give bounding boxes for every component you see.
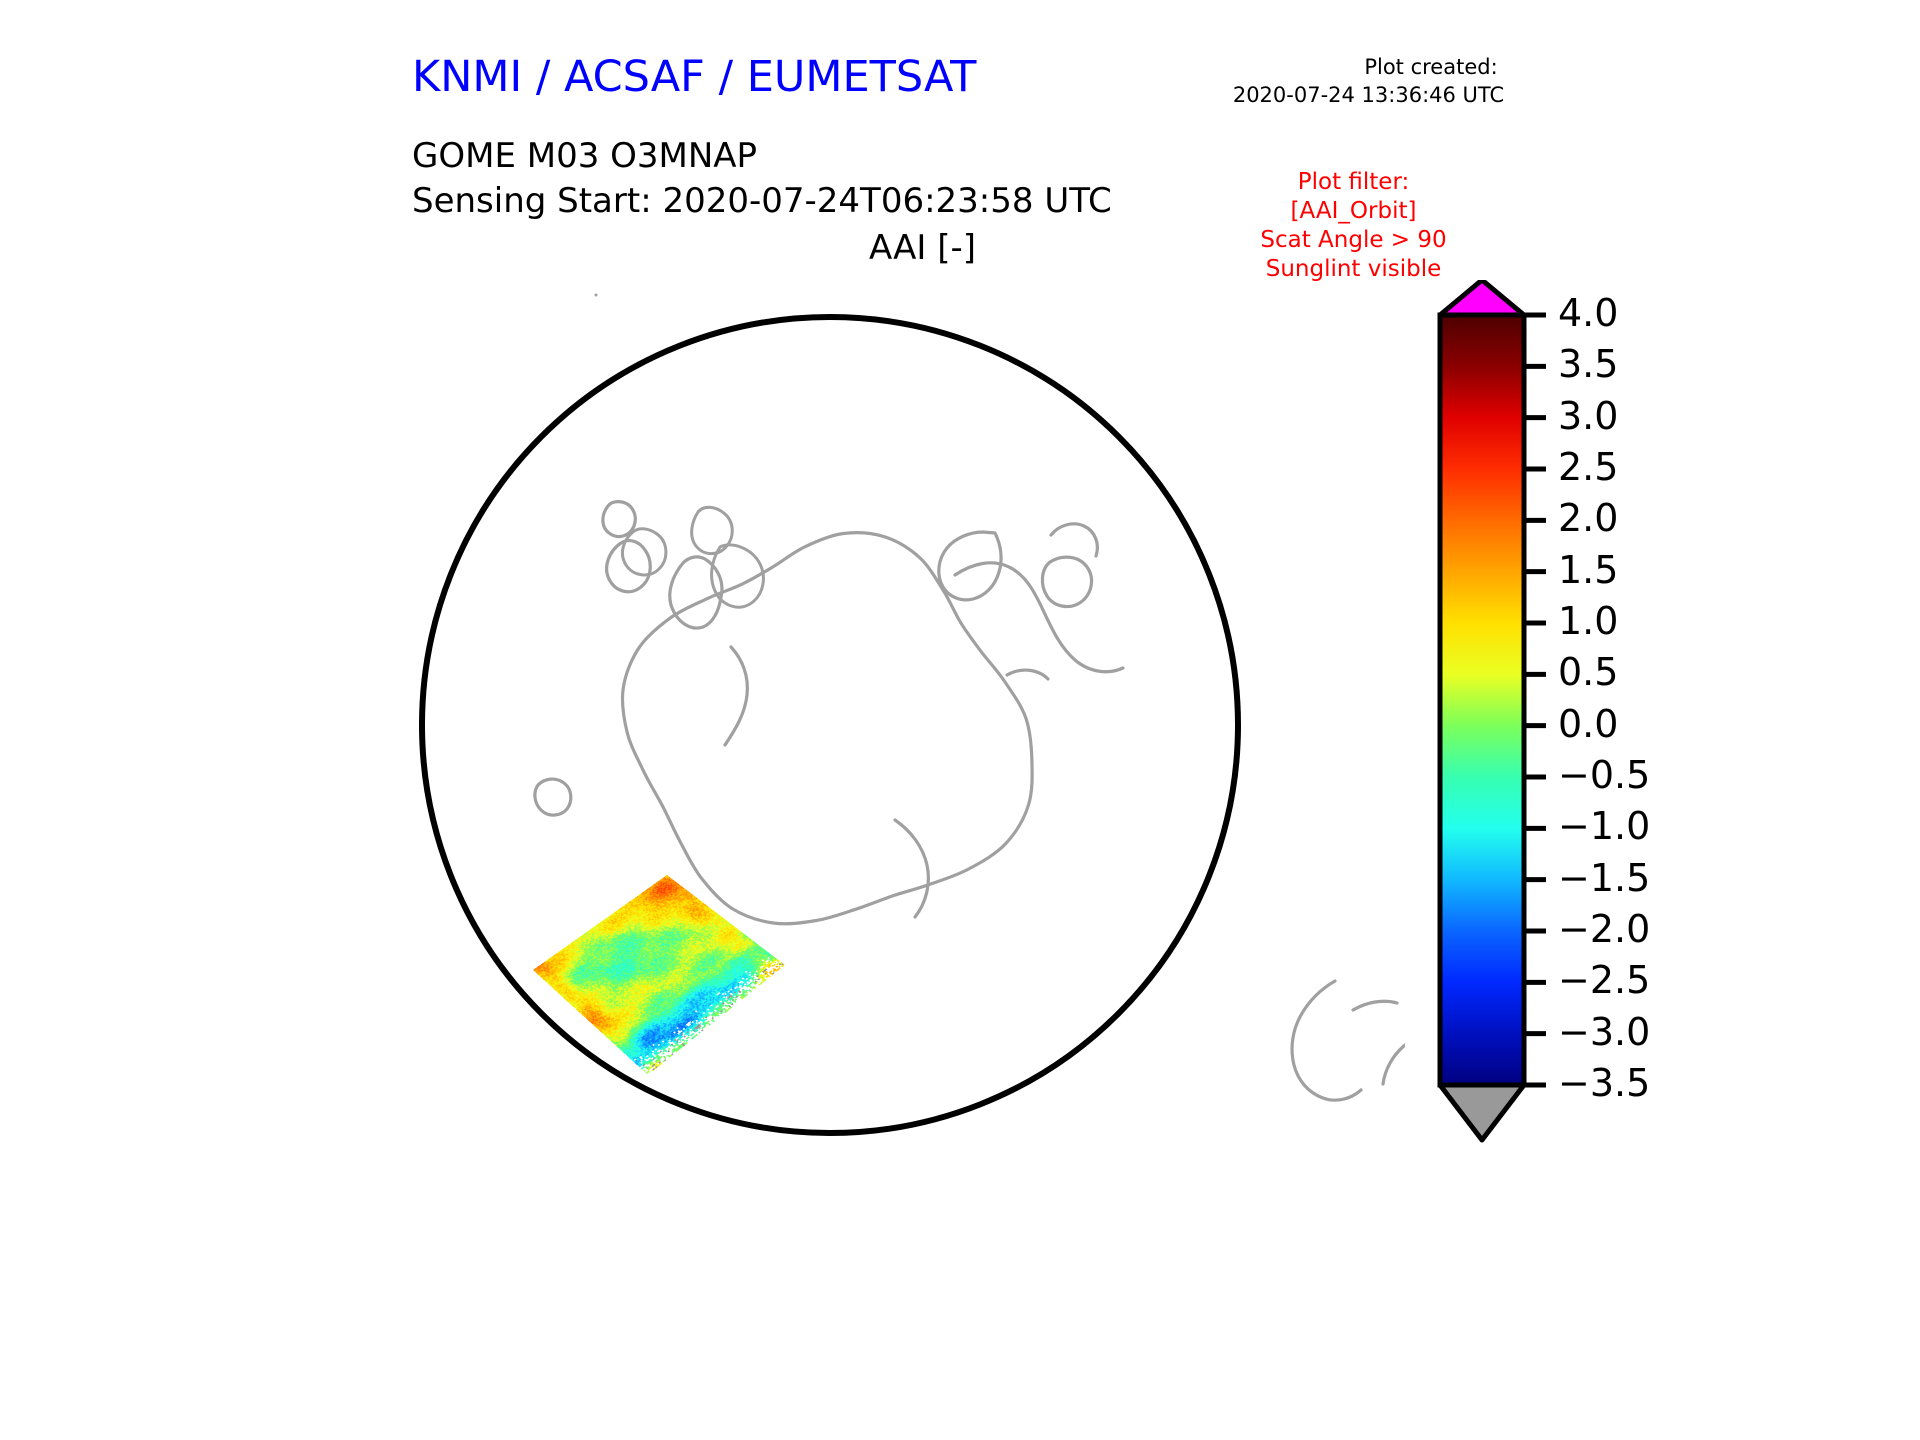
plot-filter-scat: Scat Angle > 90 [1130,226,1577,255]
colorbar-tick-label: −1.0 [1558,807,1650,845]
plot-filter-variable: [AAI_Orbit] [1130,197,1577,226]
colorbar-over-arrow [1440,280,1524,315]
colorbar-tick-label: −1.5 [1558,859,1650,897]
map-boundary-circle [422,317,1238,1133]
colorbar-ticks [1524,315,1546,1085]
aai-data-swath [533,875,785,1074]
product-name: GOME M03 O3MNAP [412,136,757,176]
colorbar: 4.03.53.02.52.01.51.00.50.0−0.5−1.0−1.5−… [1425,280,1845,1290]
plot-created-label: Plot created: [1285,55,1577,79]
colorbar-tick-label: 3.0 [1558,397,1618,435]
coastline-path [1383,1045,1405,1084]
coastline-path [622,533,1032,924]
coastline-path [955,563,1123,672]
colorbar-tick-label: 1.5 [1558,551,1618,589]
plot-created-timestamp: 2020-07-24 13:36:46 UTC [1160,83,1577,107]
colorbar-tick-label: −2.0 [1558,910,1650,948]
colorbar-tick-label: 0.0 [1558,705,1618,743]
polar-map [395,275,1405,1285]
colorbar-gradient-bar [1440,315,1524,1085]
colorbar-tick-label: 0.5 [1558,653,1618,691]
coastline-path [1353,1001,1397,1010]
coastline-path [895,820,928,917]
plot-filter-label: Plot filter: [1130,168,1577,197]
sensing-start: Sensing Start: 2020-07-24T06:23:58 UTC [412,181,1112,221]
colorbar-tick-label: −2.5 [1558,961,1650,999]
coastline-path [1007,670,1048,679]
plot-canvas: KNMI / ACSAF / EUMETSAT Plot created: 20… [0,0,1920,1440]
coastline-path [1292,981,1361,1100]
colorbar-tick-label: 2.0 [1558,499,1618,537]
colorbar-tick-label: 2.5 [1558,448,1618,486]
coastline-path [1051,524,1097,556]
colorbar-tick-label: −3.5 [1558,1064,1650,1102]
colorbar-tick-label: 1.0 [1558,602,1618,640]
colorbar-tick-label: −0.5 [1558,756,1650,794]
colorbar-under-arrow [1440,1085,1524,1140]
plot-filter-block: Plot filter: [AAI_Orbit] Scat Angle > 90… [1130,168,1577,284]
coastline-path [535,779,571,815]
colorbar-tick-label: −3.0 [1558,1013,1650,1051]
organisation-title: KNMI / ACSAF / EUMETSAT [412,52,976,102]
colorbar-tick-label: 4.0 [1558,294,1618,332]
colorbar-tick-label: 3.5 [1558,345,1618,383]
polar-map-svg [395,275,1405,1285]
coastline-path [1042,557,1091,606]
